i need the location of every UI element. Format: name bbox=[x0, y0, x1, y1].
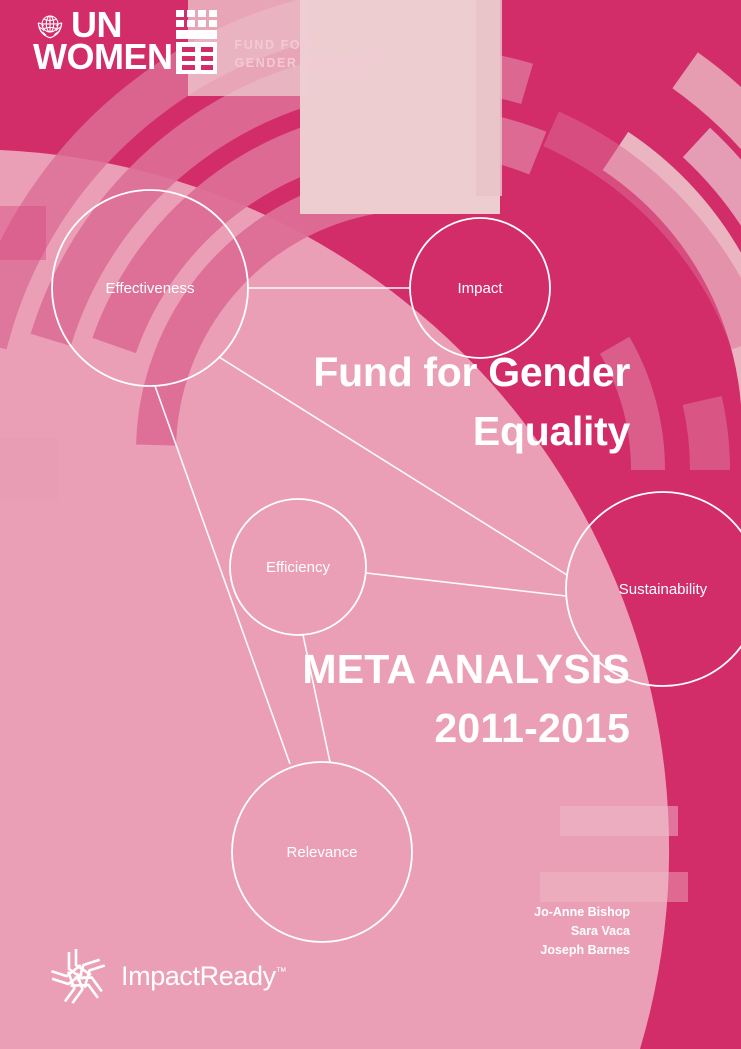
un-logo-text-women: WOMEN bbox=[33, 40, 172, 73]
impactready-wordmark: ImpactReady™ bbox=[121, 963, 287, 990]
page-subtitle-line2: 2011-2015 bbox=[170, 699, 630, 758]
author-name: Joseph Barnes bbox=[310, 941, 630, 960]
un-women-logo: UN WOMEN bbox=[33, 7, 379, 76]
page-subtitle-line1: META ANALYSIS bbox=[170, 640, 630, 699]
author-name: Jo-Anne Bishop bbox=[310, 903, 630, 922]
node-label-relevance: Relevance bbox=[287, 844, 358, 861]
node-label-sustainability: Sustainability bbox=[619, 581, 708, 598]
fund-tagline: FUND FOR GENDER EQUALITY bbox=[234, 36, 378, 72]
node-label-effectiveness: Effectiveness bbox=[106, 280, 195, 297]
trademark-symbol: ™ bbox=[276, 966, 287, 978]
page-title-line1: Fund for Gender bbox=[210, 343, 630, 402]
page-title-line2: Equality bbox=[210, 402, 630, 461]
edge-efficiency-sustainability bbox=[366, 573, 566, 596]
fund-tagline-line1: FUND FOR bbox=[234, 36, 378, 54]
page-subtitle: META ANALYSIS 2011-2015 bbox=[170, 640, 630, 759]
un-women-wordmark: UN WOMEN bbox=[33, 7, 172, 73]
evaluation-criteria-network: Effectiveness Impact Efficiency Sustaina… bbox=[0, 0, 741, 1049]
node-label-impact: Impact bbox=[457, 280, 503, 297]
impactready-name: ImpactReady bbox=[121, 961, 276, 991]
node-label-efficiency: Efficiency bbox=[266, 559, 330, 576]
page-title: Fund for Gender Equality bbox=[210, 343, 630, 462]
document-cover: Effectiveness Impact Efficiency Sustaina… bbox=[0, 0, 741, 1049]
impactready-pinwheel-star-icon bbox=[45, 941, 113, 1011]
fge-hands-mark bbox=[176, 8, 222, 76]
author-list: Jo-Anne Bishop Sara Vaca Joseph Barnes bbox=[310, 903, 630, 960]
fund-tagline-line2: GENDER EQUALITY bbox=[234, 54, 378, 72]
impactready-logo: ImpactReady™ bbox=[45, 941, 287, 1011]
author-name: Sara Vaca bbox=[310, 922, 630, 941]
diagram-nodes bbox=[52, 190, 741, 942]
